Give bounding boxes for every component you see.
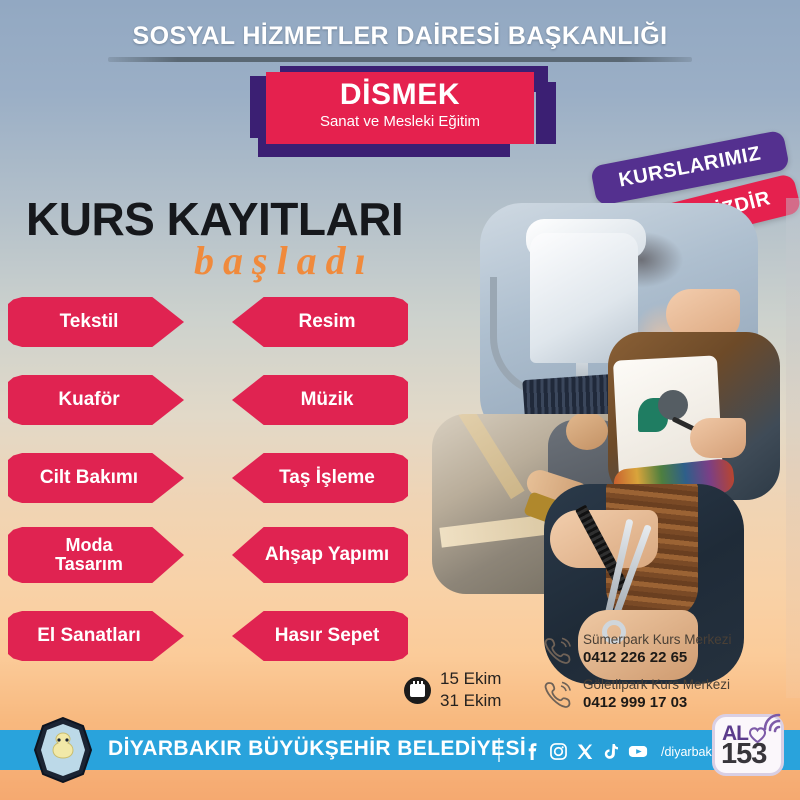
tiktok-icon[interactable] (602, 743, 619, 760)
contact-row[interactable]: Sümerpark Kurs Merkezi 0412 226 22 65 (544, 632, 732, 668)
facebook-icon[interactable] (524, 743, 541, 760)
brand-badge: DİSMEK Sanat ve Mesleki Eğitim (258, 72, 548, 150)
contact-details: Sümerpark Kurs Merkezi 0412 226 22 65 (583, 632, 732, 668)
course-tag-label-line1: Moda (65, 535, 112, 555)
wood-plank-a (447, 414, 524, 499)
date-start: 15 Ekim (440, 668, 501, 690)
course-tag-resim[interactable]: Resim (232, 297, 408, 347)
x-icon[interactable] (576, 743, 593, 760)
phone-icon (544, 679, 572, 709)
brand-tagline: Sanat ve Mesleki Eğitim (266, 113, 534, 130)
course-tag-muzik[interactable]: Müzik (232, 375, 408, 425)
course-tag-hasir-sepet[interactable]: Hasır Sepet (232, 611, 408, 661)
calendar-icon (404, 677, 431, 704)
collage-edge-strip (786, 198, 800, 698)
course-tag-label: Moda Tasarım (55, 536, 123, 574)
course-tag-label: Ahşap Yapımı (265, 545, 389, 565)
contact-list: Sümerpark Kurs Merkezi 0412 226 22 65 Gö… (544, 632, 732, 721)
hotline-number: 153 (721, 738, 766, 771)
poster-canvas: SOSYAL HİZMETLER DAİRESİ BAŞKANLIĞI DİSM… (0, 0, 800, 800)
course-tag-label: Hasır Sepet (275, 626, 380, 646)
course-tag-label: Cilt Bakımı (40, 468, 138, 488)
instagram-icon[interactable] (550, 743, 567, 760)
course-tag-label: El Sanatları (37, 626, 141, 646)
contact-center-name: Göletlipark Kurs Merkezi (583, 677, 730, 694)
course-tag-tekstil[interactable]: Tekstil (8, 297, 184, 347)
phone-icon (544, 635, 572, 665)
course-tag-label: Resim (298, 312, 355, 332)
contact-details: Göletlipark Kurs Merkezi 0412 999 17 03 (583, 677, 730, 713)
social-links: /diyarbakirbld (524, 743, 735, 760)
paint-hand (690, 418, 746, 458)
headline-script: başladı (194, 237, 375, 284)
paint-shape-gray (658, 390, 688, 420)
page-title: SOSYAL HİZMETLER DAİRESİ BAŞKANLIĞI (0, 22, 800, 51)
registration-dates: 15 Ekim 31 Ekim (404, 668, 501, 712)
municipality-name: DİYARBAKIR BÜYÜKŞEHİR BELEDİYESİ (108, 737, 526, 761)
photo-painting (608, 332, 780, 500)
course-tag-label: Müzik (301, 390, 354, 410)
title-divider (108, 57, 692, 62)
hotline-badge[interactable]: AL 153 (712, 714, 784, 776)
course-tag-label-line2: Tasarım (55, 554, 123, 574)
contact-center-name: Sümerpark Kurs Merkezi (583, 632, 732, 649)
course-tag-label: Taş İşleme (279, 468, 375, 488)
course-tag-tas-isleme[interactable]: Taş İşleme (232, 453, 408, 503)
dates-text: 15 Ekim 31 Ekim (440, 668, 501, 712)
contact-phone-number: 0412 999 17 03 (583, 694, 730, 713)
municipality-logo (30, 717, 96, 783)
youtube-icon[interactable] (628, 743, 648, 760)
calendar-sheet (410, 684, 425, 697)
course-tag-ahsap-yapimi[interactable]: Ahşap Yapımı (232, 527, 408, 583)
contact-row[interactable]: Göletlipark Kurs Merkezi 0412 999 17 03 (544, 677, 732, 713)
contact-phone-number: 0412 226 22 65 (583, 649, 732, 668)
course-tag-label: Tekstil (60, 312, 119, 332)
date-end: 31 Ekim (440, 690, 501, 712)
brand-accent-right (536, 82, 556, 144)
course-tag-label: Kuaför (58, 390, 119, 410)
course-tag-cilt-bakimi[interactable]: Cilt Bakımı (8, 453, 184, 503)
course-tag-el-sanatlari[interactable]: El Sanatları (8, 611, 184, 661)
brand-name: DİSMEK (266, 72, 534, 112)
course-tag-moda-tasarim[interactable]: Moda Tasarım (8, 527, 184, 583)
brand-panel: DİSMEK Sanat ve Mesleki Eğitim (266, 72, 534, 144)
course-tag-kuafor[interactable]: Kuaför (8, 375, 184, 425)
footer-divider (498, 738, 500, 762)
